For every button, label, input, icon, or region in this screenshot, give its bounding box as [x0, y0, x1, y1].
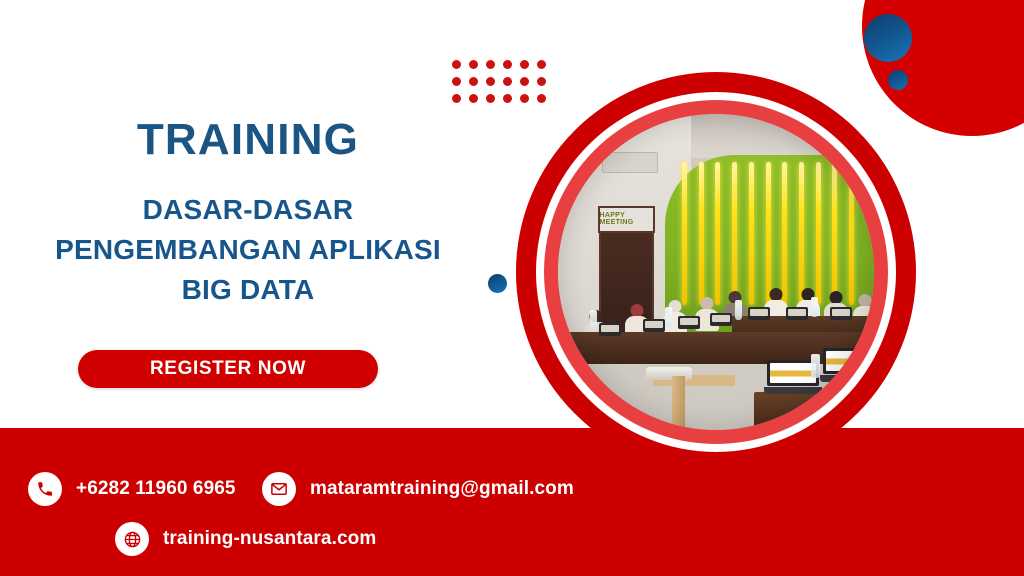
- globe-icon: [115, 522, 149, 556]
- photo-medallion: HAPPY MEETING: [516, 72, 916, 472]
- photo-scene: HAPPY MEETING: [558, 114, 874, 430]
- headline-block: TRAINING DASAR-DASAR PENGEMBANGAN APLIKA…: [38, 118, 458, 309]
- email-icon: [262, 472, 296, 506]
- phone-number: +6282 11960 6965: [76, 478, 236, 500]
- contact-phone[interactable]: +6282 11960 6965: [28, 472, 236, 506]
- scene-happy-meeting-sign: HAPPY MEETING: [598, 206, 656, 234]
- website-url: training-nusantara.com: [163, 528, 376, 550]
- cta-wrapper: REGISTER NOW: [78, 350, 378, 388]
- contact-website[interactable]: training-nusantara.com: [115, 522, 376, 556]
- email-address: mataramtraining@gmail.com: [310, 478, 574, 500]
- kicker-training: TRAINING: [38, 118, 458, 162]
- title-line-2: PENGEMBANGAN APLIKASI: [38, 230, 458, 270]
- phone-icon: [28, 472, 62, 506]
- scene-side-desk: [754, 392, 849, 430]
- training-photo: HAPPY MEETING: [558, 114, 874, 430]
- page-title: DASAR-DASAR PENGEMBANGAN APLIKASI BIG DA…: [38, 190, 458, 309]
- register-now-button[interactable]: REGISTER NOW: [78, 350, 378, 388]
- contact-email[interactable]: mataramtraining@gmail.com: [262, 472, 574, 506]
- scene-projector-stand: [672, 376, 685, 430]
- scene-projector: [646, 367, 692, 380]
- title-line-1: DASAR-DASAR: [38, 190, 458, 230]
- blue-circle-mid-decoration: [488, 274, 507, 293]
- promotional-banner: +6282 11960 6965 mataramtraining@gmail.c…: [0, 0, 1024, 576]
- scene-laptop-foreground-2: [823, 348, 874, 382]
- blue-circle-large-decoration: [864, 14, 912, 62]
- scene-air-conditioner: [602, 152, 658, 173]
- title-line-3: BIG DATA: [38, 270, 458, 310]
